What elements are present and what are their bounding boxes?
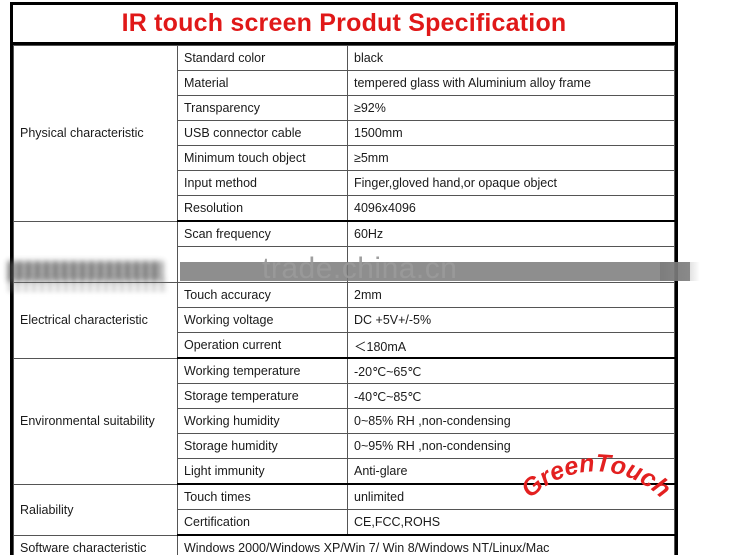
property-cell: Working voltage <box>178 308 348 333</box>
value-cell: Anti-glare <box>348 459 675 485</box>
value-cell: tempered glass with Aluminium alloy fram… <box>348 71 675 96</box>
property-cell: Working humidity <box>178 409 348 434</box>
specification-table: Physical characteristic Standard color b… <box>13 45 675 555</box>
spec-sheet-frame: IR touch screen Produt Specification Phy… <box>10 2 678 555</box>
value-cell: black <box>348 46 675 71</box>
table-row: Physical characteristic Standard color b… <box>14 46 675 71</box>
property-cell: Working temperature <box>178 358 348 384</box>
property-cell: Minimum touch object <box>178 146 348 171</box>
value-cell: 0~85% RH ,non-condensing <box>348 409 675 434</box>
property-cell: Storage temperature <box>178 384 348 409</box>
table-row: Environmental suitability Working temper… <box>14 358 675 384</box>
category-cell-blank <box>14 221 178 283</box>
category-cell-reliability: Raliability <box>14 484 178 535</box>
sheet-title-row: IR touch screen Produt Specification <box>13 5 675 45</box>
category-cell-physical: Physical characteristic <box>14 46 178 222</box>
property-cell: Input method <box>178 171 348 196</box>
value-cell: unlimited <box>348 484 675 510</box>
value-cell: -40℃~85℃ <box>348 384 675 409</box>
property-cell: Resolution <box>178 196 348 222</box>
value-cell: 4096x4096 <box>348 196 675 222</box>
table-row: Software characteristic Windows 2000/Win… <box>14 535 675 555</box>
property-cell: Material <box>178 71 348 96</box>
property-cell: Touch accuracy <box>178 283 348 308</box>
property-cell <box>178 247 348 283</box>
property-cell: Storage humidity <box>178 434 348 459</box>
value-cell: CE,FCC,ROHS <box>348 510 675 536</box>
category-cell-environmental: Environmental suitability <box>14 358 178 484</box>
table-row: Scan frequency 60Hz <box>14 221 675 247</box>
value-cell: ≥5mm <box>348 146 675 171</box>
property-cell: Certification <box>178 510 348 536</box>
property-cell: Operation current <box>178 333 348 359</box>
page-title: IR touch screen Produt Specification <box>122 9 567 38</box>
value-cell-software: Windows 2000/Windows XP/Win 7/ Win 8/Win… <box>178 535 675 555</box>
value-cell: 60Hz <box>348 221 675 247</box>
property-cell: Touch times <box>178 484 348 510</box>
table-row: Electrical characteristic Touch accuracy… <box>14 283 675 308</box>
property-cell: USB connector cable <box>178 121 348 146</box>
value-cell: ≥92% <box>348 96 675 121</box>
value-cell: Finger,gloved hand,or opaque object <box>348 171 675 196</box>
category-cell-software: Software characteristic <box>14 535 178 555</box>
value-cell: ＜180mA <box>348 333 675 359</box>
value-cell: 2mm <box>348 283 675 308</box>
specification-sheet-page: IR touch screen Produt Specification Phy… <box>0 0 751 555</box>
property-cell: Transparency <box>178 96 348 121</box>
value-cell: -20℃~65℃ <box>348 358 675 384</box>
property-cell: Scan frequency <box>178 221 348 247</box>
value-cell: DC +5V+/-5% <box>348 308 675 333</box>
property-cell: Standard color <box>178 46 348 71</box>
category-cell-electrical: Electrical characteristic <box>14 283 178 359</box>
value-cell: 0~95% RH ,non-condensing <box>348 434 675 459</box>
property-cell: Light immunity <box>178 459 348 485</box>
value-cell: 1500mm <box>348 121 675 146</box>
table-row: Raliability Touch times unlimited <box>14 484 675 510</box>
value-cell <box>348 247 675 283</box>
